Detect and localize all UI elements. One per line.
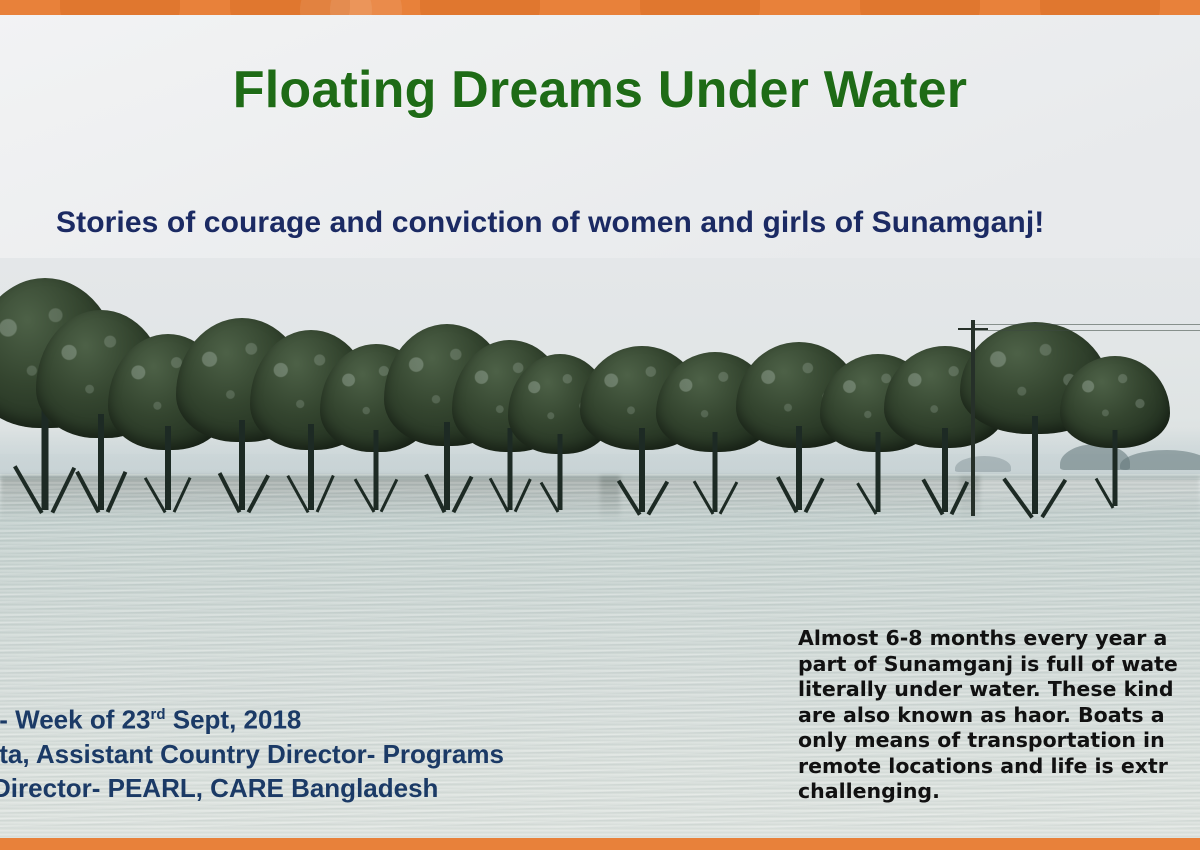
- slide-title: Floating Dreams Under Water: [0, 60, 1200, 120]
- credits-line-date: ates - Week of 23rd Sept, 2018: [0, 698, 660, 737]
- utility-pole: [971, 320, 975, 516]
- power-wire-1: [975, 324, 1200, 325]
- power-wire-2: [975, 330, 1200, 331]
- credits-line-person-2: am, Director- PEARL, CARE Bangladesh: [0, 771, 660, 805]
- caption-line: Almost 6-8 months every year a: [798, 626, 1200, 652]
- caption-line: literally under water. These kind: [798, 677, 1200, 703]
- caption-line: challenging.: [798, 779, 1200, 805]
- credits-date-post: Sept, 2018: [166, 705, 302, 735]
- credits-date-ordinal: rd: [151, 706, 166, 723]
- caption-line: are also known as haor. Boats a: [798, 703, 1200, 729]
- slide-subtitle: Stories of courage and conviction of wom…: [56, 206, 1196, 240]
- top-accent-band: [0, 0, 1200, 15]
- bottom-accent-band: [0, 838, 1200, 850]
- pole-crossarm: [958, 328, 988, 330]
- photo-caption-block: Almost 6-8 months every year a part of S…: [798, 626, 1200, 805]
- caption-line: part of Sunamganj is full of wate: [798, 652, 1200, 678]
- slide-canvas: Floating Dreams Under Water Stories of c…: [0, 0, 1200, 850]
- credits-date-pre: ates - Week of 23: [0, 705, 151, 735]
- caption-line: remote locations and life is extr: [798, 754, 1200, 780]
- caption-line: only means of transportation in: [798, 728, 1200, 754]
- tree: [1060, 356, 1170, 506]
- credits-line-person-1: evkota, Assistant Country Director- Prog…: [0, 737, 660, 771]
- credits-block: ates - Week of 23rd Sept, 2018 evkota, A…: [0, 698, 660, 805]
